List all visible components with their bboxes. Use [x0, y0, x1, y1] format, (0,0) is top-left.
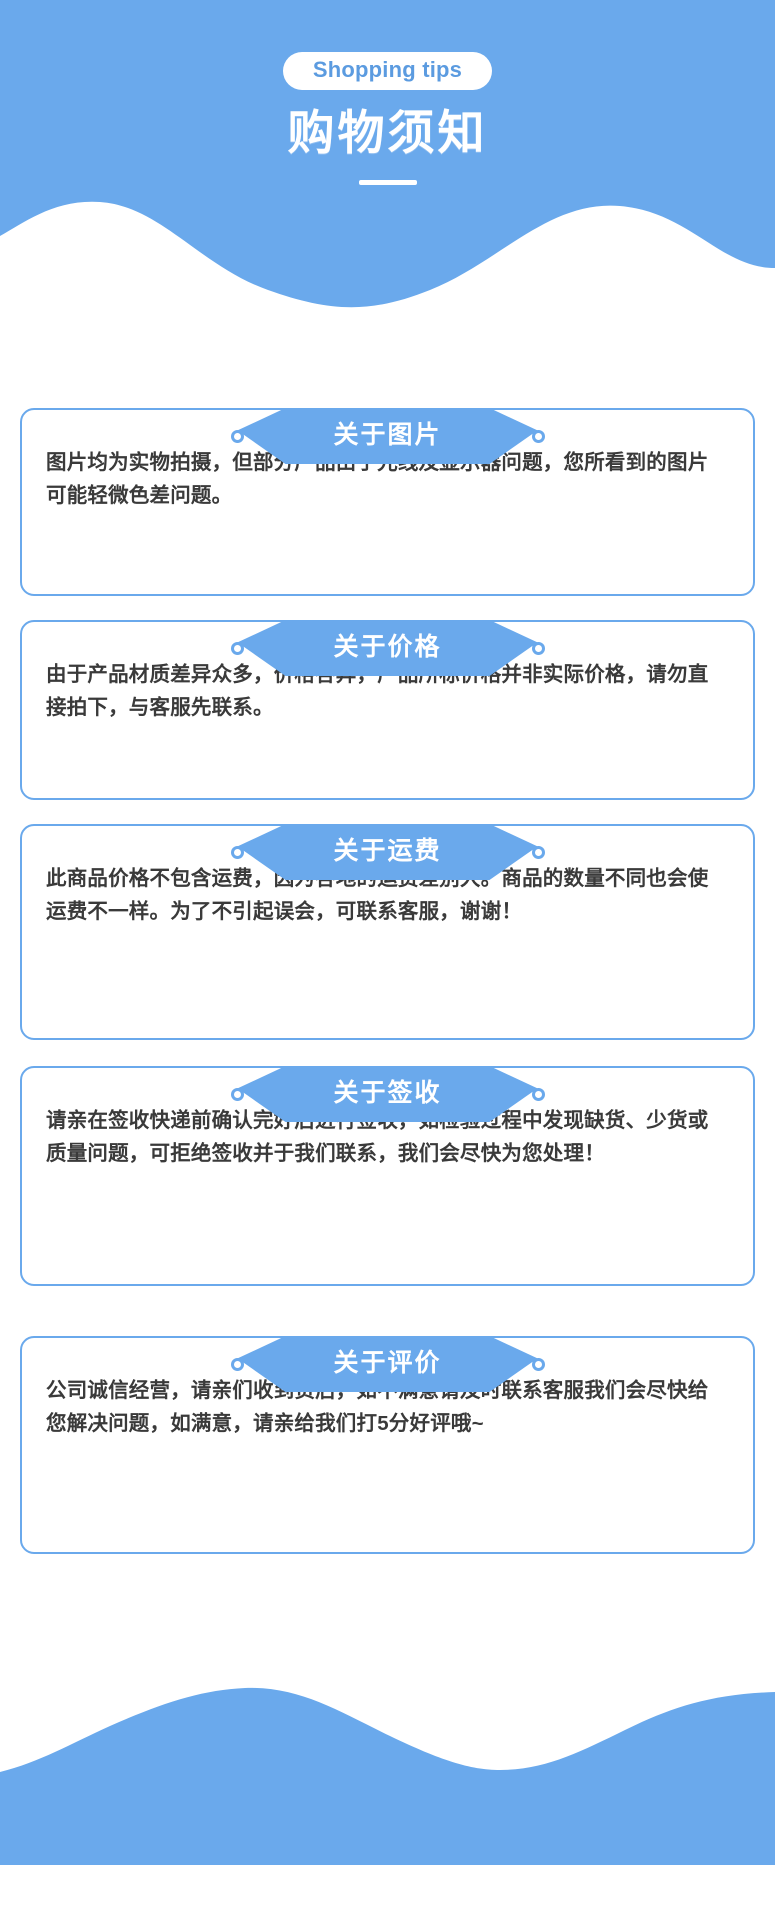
card-badge-about-receipt: 关于签收 [238, 1066, 538, 1122]
badge-connector-dot-right [532, 846, 545, 859]
badge-connector-dot-left [231, 1358, 244, 1371]
page-footer [0, 1620, 775, 1920]
card-badge-label: 关于图片 [333, 423, 441, 450]
badge-connector-dot-left [231, 1088, 244, 1101]
badge-connector-dot-right [532, 1358, 545, 1371]
card-badge-about-review: 关于评价 [238, 1336, 538, 1392]
card-badge-about-shipping: 关于运费 [238, 824, 538, 880]
card-badge-label: 关于运费 [333, 839, 441, 866]
card-badge-about-images: 关于图片 [238, 408, 538, 464]
badge-connector-dot-right [532, 642, 545, 655]
badge-connector-dot-left [231, 642, 244, 655]
header-content: Shopping tips 购物须知 [0, 0, 775, 185]
notice-card: 关于图片 图片均为实物拍摄，但部分产品由于光线及显示器问题，您所看到的图片可能轻… [20, 408, 755, 596]
card-badge-label: 关于评价 [333, 1351, 441, 1378]
footer-wave-shape [0, 1620, 775, 1920]
badge-connector-dot-right [532, 1088, 545, 1101]
notice-card: 关于运费 此商品价格不包含运费，因为各地的运费差别大。商品的数量不同也会使运费不… [20, 824, 755, 1040]
notice-card: 关于签收 请亲在签收快递前确认完好后进行签收，如检验过程中发现缺货、少货或质量问… [20, 1066, 755, 1286]
badge-connector-dot-left [231, 846, 244, 859]
title-underline-divider [359, 180, 417, 185]
notice-card: 关于价格 由于产品材质差异众多，价格各异，产品所标价格并非实际价格，请勿直接拍下… [20, 620, 755, 800]
notice-card-list: 关于图片 图片均为实物拍摄，但部分产品由于光线及显示器问题，您所看到的图片可能轻… [0, 386, 775, 1554]
shopping-tips-page: Shopping tips 购物须知 关于图片 图片均为实物拍摄，但部分产品由于… [0, 0, 775, 1920]
page-title: 购物须知 [0, 106, 775, 160]
card-badge-label: 关于签收 [333, 1081, 441, 1108]
badge-connector-dot-left [231, 430, 244, 443]
badge-connector-dot-right [532, 430, 545, 443]
page-header: Shopping tips 购物须知 [0, 0, 775, 330]
shopping-tips-pill: Shopping tips [283, 52, 492, 90]
card-badge-label: 关于价格 [333, 635, 441, 662]
notice-card: 关于评价 公司诚信经营，请亲们收到货后，如不满意请及时联系客服我们会尽快给您解决… [20, 1336, 755, 1554]
card-badge-about-price: 关于价格 [238, 620, 538, 676]
